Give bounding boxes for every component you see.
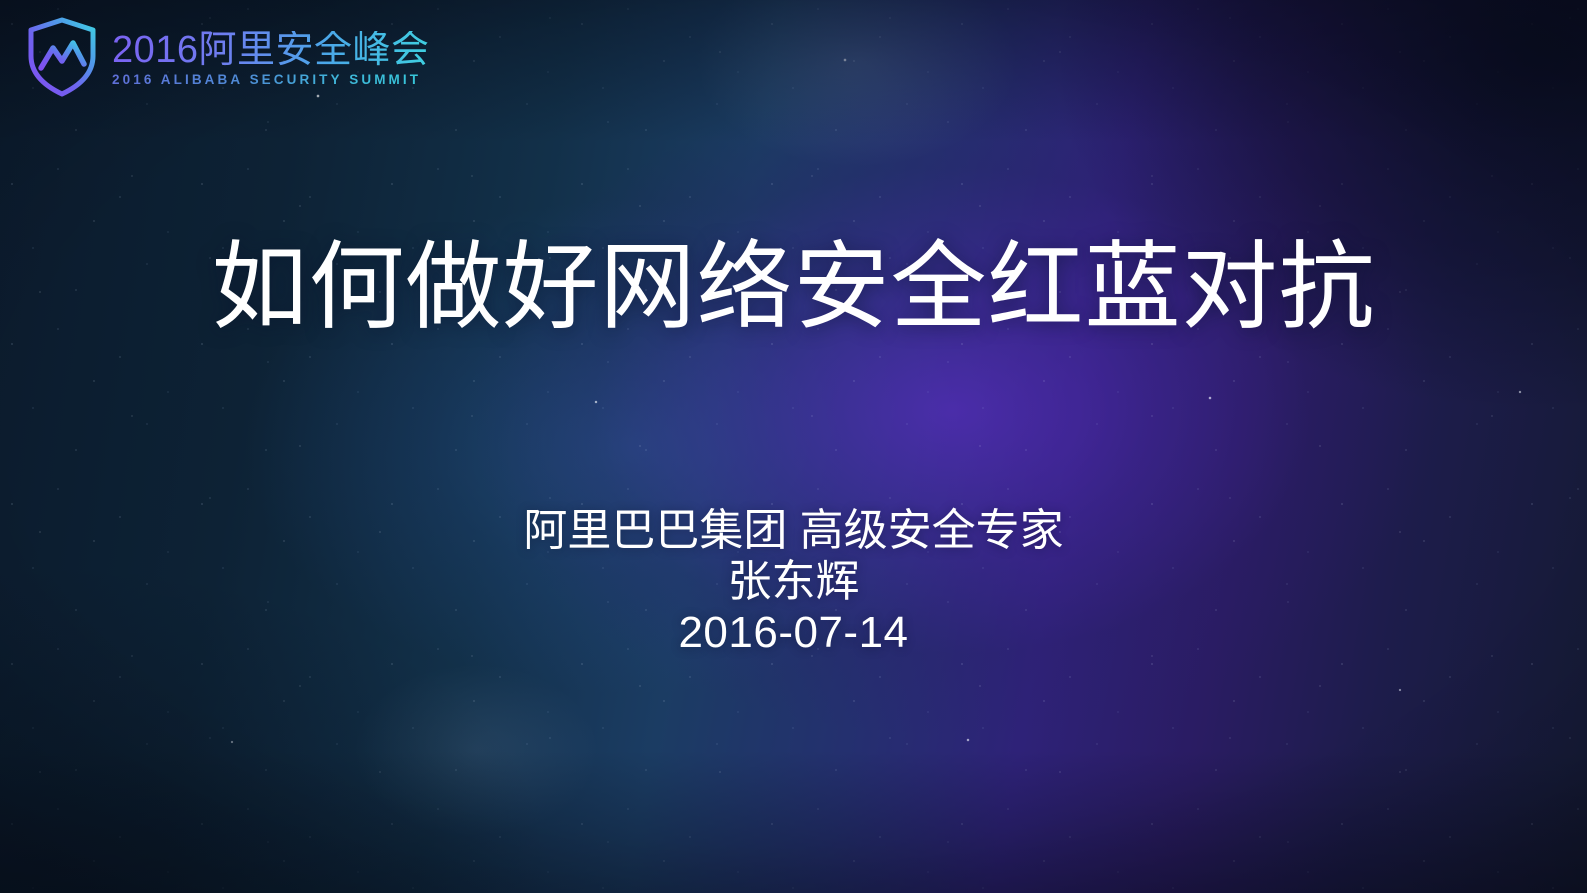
logo-text-block: 2016阿里安全峰会 2016 ALIBABA SECURITY SUMMIT (112, 27, 430, 86)
shield-mountain-icon (26, 16, 98, 98)
logo-wordmark: 2016阿里安全峰会 (112, 31, 430, 70)
background-stars-fine (0, 0, 1587, 893)
background-stars-medium (0, 0, 1587, 893)
presentation-date: 2016-07-14 (0, 607, 1587, 658)
background-blue-glow (0, 0, 1587, 893)
background-vignette (0, 0, 1587, 893)
event-logo: 2016阿里安全峰会 2016 ALIBABA SECURITY SUMMIT (26, 16, 430, 98)
presentation-slide: 2016阿里安全峰会 2016 ALIBABA SECURITY SUMMIT … (0, 0, 1587, 893)
background-gradient (0, 0, 1587, 893)
presenter-block: 阿里巴巴集团 高级安全专家 张东辉 2016-07-14 (0, 505, 1587, 658)
background-purple-nebula (0, 0, 1587, 893)
background-milky-wisp (0, 0, 1587, 893)
presenter-name: 张东辉 (0, 556, 1587, 607)
logo-tagline: 2016 ALIBABA SECURITY SUMMIT (112, 73, 430, 87)
background-stars-bright (0, 0, 1587, 893)
presenter-affiliation: 阿里巴巴集团 高级安全专家 (0, 505, 1587, 556)
background-corner-shade (0, 0, 1587, 893)
slide-title: 如何做好网络安全红蓝对抗 (0, 236, 1587, 340)
